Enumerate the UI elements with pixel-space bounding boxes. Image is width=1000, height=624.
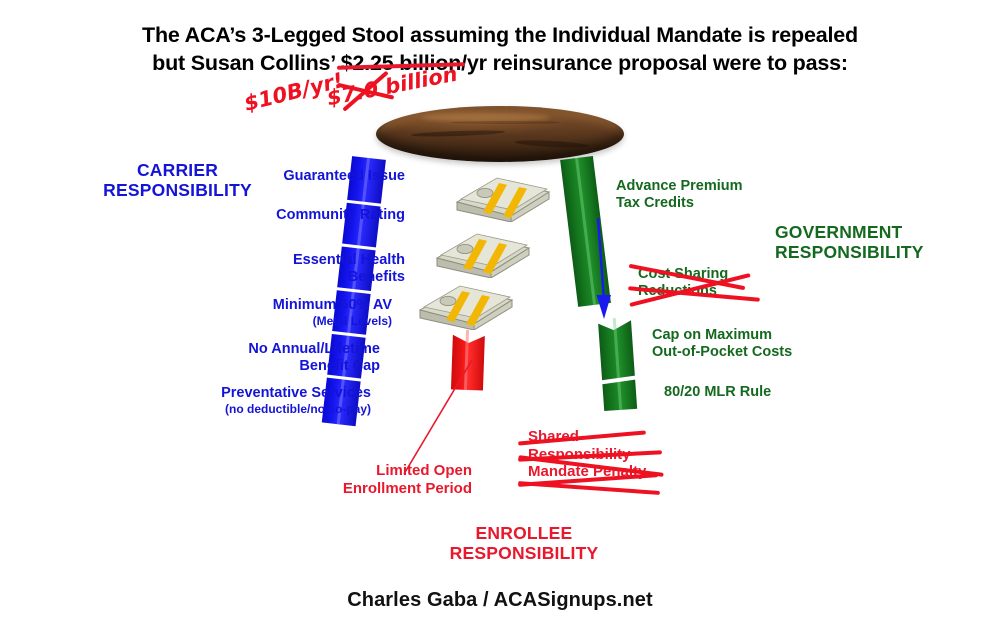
footer-credit: Charles Gaba / ACASignups.net <box>0 589 1000 612</box>
carrier-item-label: Community Rating <box>276 207 405 223</box>
carrier-item-label-line-2: Benefit Cap <box>299 358 380 374</box>
government-item-advance-premium-tax-credits: Advance Premium Tax Credits <box>616 178 743 212</box>
stool-seat <box>376 106 624 162</box>
carrier-item-label: Guaranteed Issue <box>283 168 405 184</box>
carrier-item-label-line-2: Benefits <box>348 269 405 285</box>
seat-grain-line <box>450 121 559 124</box>
infographic-canvas: The ACA’s 3-Legged Stool assuming the In… <box>0 0 1000 624</box>
title-line-2-prefix: but Susan Collins’ <box>152 51 341 75</box>
repealed-text-wrapper: Cost Sharing Reductions <box>638 266 728 300</box>
annotation-crossed-number: 7.0 <box>339 77 380 108</box>
title-line-2-suffix: /yr reinsurance proposal were to pass: <box>461 51 848 75</box>
carrier-item-no-benefit-cap: No Annual/Lifetime Benefit Cap <box>185 341 380 375</box>
carrier-item-label: Preventative Services <box>221 385 371 401</box>
enrollee-heading-line-1: ENROLLEE <box>476 523 573 543</box>
seat-grain-line <box>515 139 590 149</box>
carrier-item-community-rating: Community Rating <box>215 207 405 224</box>
enrollee-item-label-line-2: Enrollment Period <box>343 480 472 497</box>
title-line-2: but Susan Collins’ $2.25 billion/yr rein… <box>0 50 1000 78</box>
government-heading-line-2: RESPONSIBILITY <box>775 242 924 262</box>
carrier-item-essential-health-benefits: Essential Health Benefits <box>215 252 405 286</box>
government-item-mlr-rule: 80/20 MLR Rule <box>664 384 771 401</box>
downward-arrow-icon <box>591 215 613 325</box>
page-title: The ACA’s 3-Legged Stool assuming the In… <box>0 22 1000 77</box>
government-responsibility-heading: GOVERNMENT RESPONSIBILITY <box>775 222 924 263</box>
enrollee-responsibility-heading: ENROLLEE RESPONSIBILITY <box>424 523 624 564</box>
government-item-out-of-pocket-cap: Cap on Maximum Out-of-Pocket Costs <box>652 327 792 361</box>
money-stack <box>455 172 551 222</box>
carrier-item-sublabel: (no deductible/no co-pay) <box>165 402 371 416</box>
carrier-item-sublabel: (Metal Levels) <box>200 314 392 328</box>
carrier-item-guaranteed-issue: Guaranteed Issue <box>225 168 405 185</box>
strikethrough-mark <box>518 481 660 495</box>
repealed-text-wrapper: Shared Responsibility Mandate Penalty <box>528 428 646 481</box>
government-item-label-line-2: Tax Credits <box>616 195 694 211</box>
carrier-item-label: Minimum 60% AV <box>273 297 392 313</box>
enrollee-item-label: Limited Open <box>376 462 472 479</box>
government-item-label: 80/20 MLR Rule <box>664 384 771 400</box>
carrier-item-preventative-services: Preventative Services (no deductible/no … <box>165 385 371 416</box>
government-item-label-line-2: Out-of-Pocket Costs <box>652 344 792 360</box>
carrier-item-label: No Annual/Lifetime <box>248 341 380 357</box>
title-line-1: The ACA’s 3-Legged Stool assuming the In… <box>142 23 858 47</box>
enrollee-heading-line-2: RESPONSIBILITY <box>450 543 599 563</box>
government-item-label: Advance Premium <box>616 178 743 194</box>
seat-grain-line <box>411 129 505 137</box>
carrier-heading-line-1: CARRIER <box>137 160 218 180</box>
carrier-item-label: Essential Health <box>293 252 405 268</box>
government-heading-line-1: GOVERNMENT <box>775 222 902 242</box>
money-stack <box>435 228 531 278</box>
government-item-label: Cap on Maximum <box>652 327 772 343</box>
leg-sheen <box>612 318 621 410</box>
government-item-cost-sharing-reductions: Cost Sharing Reductions <box>638 266 728 300</box>
enrollee-item-shared-responsibility-mandate-penalty: Shared Responsibility Mandate Penalty <box>528 428 646 481</box>
carrier-item-minimum-av: Minimum 60% AV (Metal Levels) <box>200 297 392 328</box>
enrollee-item-limited-open-enrollment: Limited Open Enrollment Period <box>300 462 472 497</box>
money-stack <box>418 280 514 330</box>
stool-leg-government-lower <box>598 317 637 411</box>
